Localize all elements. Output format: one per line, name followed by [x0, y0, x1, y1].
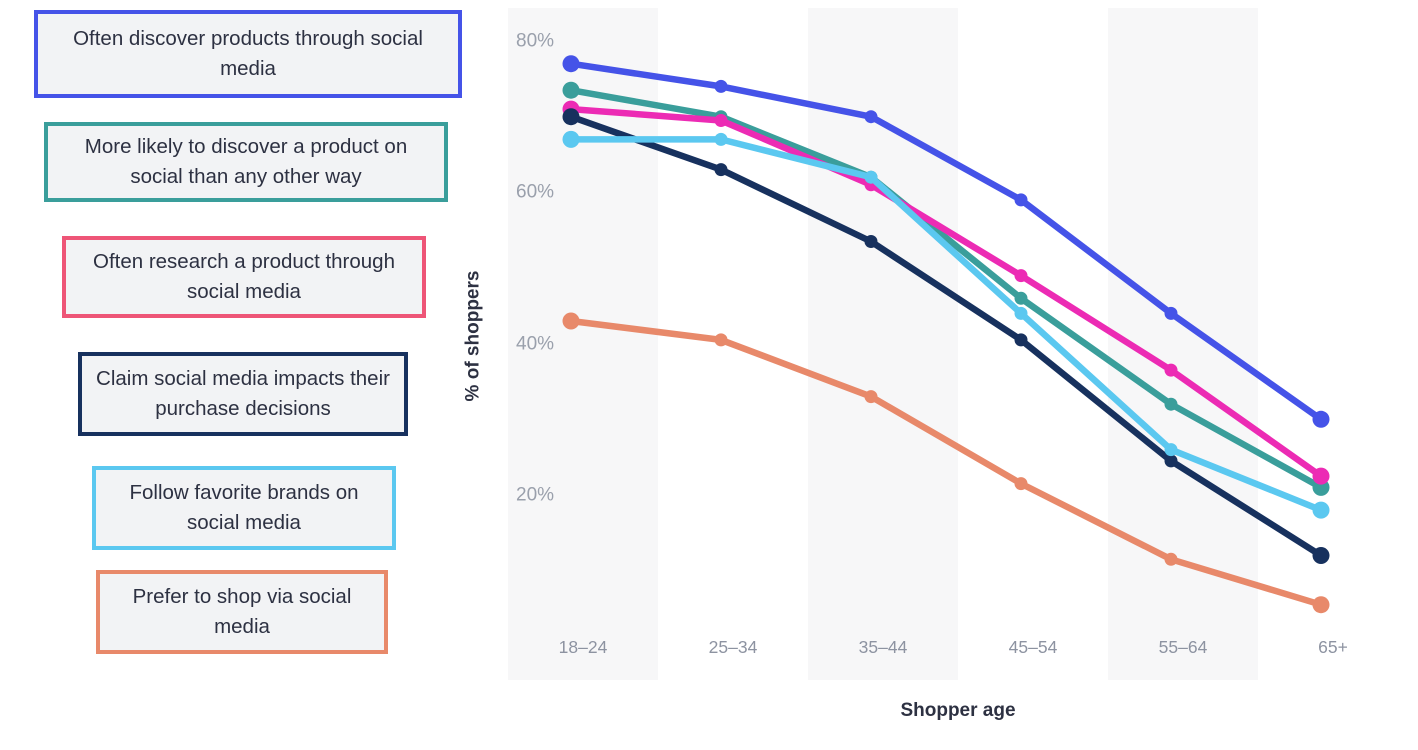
legend-item-label: More likely to discover a product on soc…	[58, 132, 434, 192]
legend-item-often-research[interactable]: Often research a product through social …	[62, 236, 426, 318]
legend: Often discover products through social m…	[0, 0, 500, 690]
x-tick-5: 65+	[1318, 638, 1348, 656]
line-chart: 80%60%40%20% 18–2425–3435–4445–5455–6465…	[460, 0, 1418, 750]
legend-item-often-discover[interactable]: Often discover products through social m…	[34, 10, 462, 98]
x-tick-3: 45–54	[1009, 638, 1058, 656]
x-tick-4: 55–64	[1159, 638, 1208, 656]
x-tick-1: 25–34	[709, 638, 758, 656]
x-tick-0: 18–24	[559, 638, 608, 656]
legend-item-label: Claim social media impacts their purchas…	[92, 364, 394, 424]
legend-item-more-likely-discover[interactable]: More likely to discover a product on soc…	[44, 122, 448, 202]
legend-item-label: Prefer to shop via social media	[110, 582, 374, 642]
legend-item-impacts-purchase[interactable]: Claim social media impacts their purchas…	[78, 352, 408, 436]
legend-item-follow-brands[interactable]: Follow favorite brands on social media	[92, 466, 396, 550]
x-axis-ticks: 18–2425–3435–4445–5455–6465+	[508, 8, 1408, 680]
x-tick-2: 35–44	[859, 638, 908, 656]
y-axis-title-text: % of shoppers	[462, 271, 484, 402]
legend-item-label: Follow favorite brands on social media	[106, 478, 382, 538]
chart-page: Often discover products through social m…	[0, 0, 1418, 750]
legend-item-label: Often discover products through social m…	[48, 24, 448, 84]
x-axis-title: Shopper age	[508, 700, 1408, 722]
legend-item-prefer-shop[interactable]: Prefer to shop via social media	[96, 570, 388, 654]
y-axis-title: % of shoppers	[458, 0, 488, 672]
legend-item-label: Often research a product through social …	[76, 247, 412, 307]
plot-area: 80%60%40%20% 18–2425–3435–4445–5455–6465…	[508, 8, 1408, 680]
